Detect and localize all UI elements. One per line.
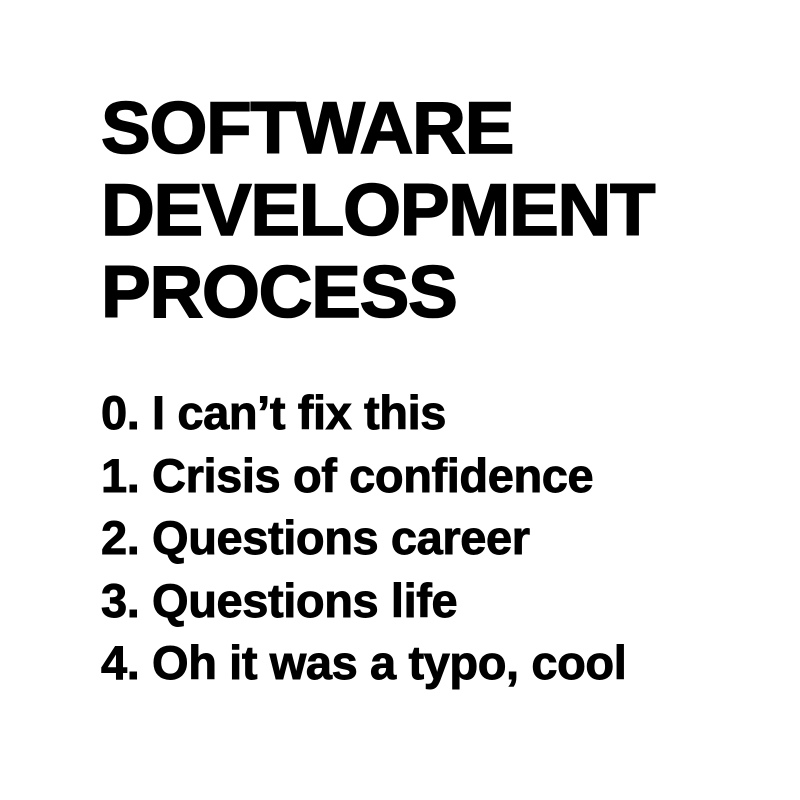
- title-line-1: SOFTWARE: [101, 88, 754, 170]
- list-item: 4. Oh it was a typo, cool: [101, 632, 741, 695]
- list-item: 1. Crisis of confidence: [101, 445, 741, 508]
- poster-content: SOFTWARE DEVELOPMENT PROCESS 0. I can’t …: [101, 88, 741, 695]
- page-title: SOFTWARE DEVELOPMENT PROCESS: [101, 88, 741, 334]
- list-item: 2. Questions career: [101, 507, 741, 570]
- title-line-2: DEVELOPMENT: [101, 170, 754, 252]
- process-step-list: 0. I can’t fix this 1. Crisis of confide…: [101, 382, 741, 695]
- poster-canvas: SOFTWARE DEVELOPMENT PROCESS 0. I can’t …: [0, 0, 800, 800]
- list-item: 0. I can’t fix this: [101, 382, 741, 445]
- list-item: 3. Questions life: [101, 570, 741, 633]
- title-line-3: PROCESS: [101, 252, 754, 334]
